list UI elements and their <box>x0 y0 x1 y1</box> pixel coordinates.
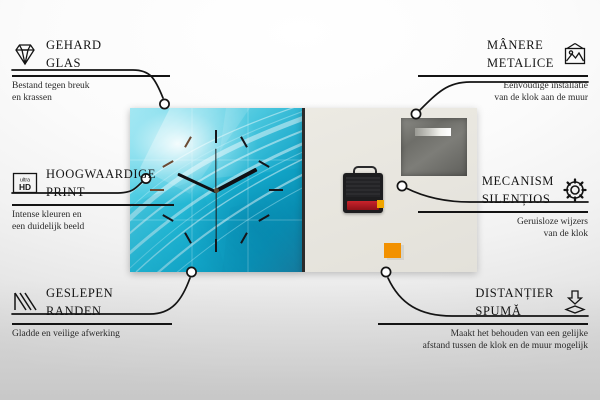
feature-subtitle-line1: Geruisloze wijzers <box>418 216 588 228</box>
feature-mecanism-silentios: MECANISM SILENȚIOS Geruisloze wijzers va… <box>418 172 588 240</box>
ultra-hd-icon: ultra HD <box>12 170 38 196</box>
feature-divider <box>12 323 172 325</box>
feature-divider <box>378 323 588 325</box>
feature-title: GEHARD GLAS <box>46 36 102 72</box>
svg-text:HD: HD <box>19 182 31 192</box>
feature-hoogwaardige-print: ultra HD HOOGWAARDIGE PRINT Intense kleu… <box>12 165 187 233</box>
feature-gehard-glas: GEHARD GLAS Bestand tegen breuk en krass… <box>12 36 182 104</box>
feature-divider <box>418 211 588 213</box>
feature-title: HOOGWAARDIGE PRINT <box>46 165 156 201</box>
feature-title: MÂNERE METALICE <box>487 36 554 72</box>
feature-distantier-spuma: DISTANȚIER SPUMĂ Maakt het behouden van … <box>378 284 588 352</box>
feature-title: MECANISM SILENȚIOS <box>482 172 554 208</box>
feature-subtitle-line1: Maakt het behouden van een gelijke <box>378 328 588 340</box>
gear-icon <box>562 177 588 203</box>
diagonal-lines-icon <box>12 289 38 315</box>
feature-divider <box>418 75 588 77</box>
feature-manere-metalice: MÂNERE METALICE Eenvoudige installatie v… <box>418 36 588 104</box>
feature-divider <box>12 204 174 206</box>
feature-subtitle-line2: van de klok aan de muur <box>418 92 588 104</box>
arrow-layers-icon <box>562 289 588 315</box>
feature-geslepen-randen: GESLEPEN RANDEN Gladde en veilige afwerk… <box>12 284 192 340</box>
feature-subtitle-line1: Eenvoudige installatie <box>418 80 588 92</box>
feature-subtitle-line1: Intense kleuren en <box>12 209 187 221</box>
feature-subtitle-line2: afstand tussen de klok en de muur mogeli… <box>378 340 588 352</box>
feature-title: DISTANȚIER SPUMĂ <box>475 284 554 320</box>
feature-divider <box>12 75 170 77</box>
picture-frame-icon <box>562 41 588 67</box>
feature-subtitle-line2: van de klok <box>418 228 588 240</box>
diamond-icon <box>12 41 38 67</box>
feature-subtitle-line2: en krassen <box>12 92 182 104</box>
infographic-canvas: GEHARD GLAS Bestand tegen breuk en krass… <box>0 0 600 400</box>
feature-title: GESLEPEN RANDEN <box>46 284 113 320</box>
feature-subtitle-line2: een duidelijk beeld <box>12 221 187 233</box>
feature-heading-row: DISTANȚIER SPUMĂ <box>378 284 588 320</box>
feature-subtitle-line1: Gladde en veilige afwerking <box>12 328 192 340</box>
feature-subtitle-line1: Bestand tegen breuk <box>12 80 182 92</box>
feature-heading-row: GESLEPEN RANDEN <box>12 284 192 320</box>
feature-heading-row: MECANISM SILENȚIOS <box>418 172 588 208</box>
feature-heading-row: ultra HD HOOGWAARDIGE PRINT <box>12 165 187 201</box>
feature-heading-row: MÂNERE METALICE <box>418 36 588 72</box>
feature-heading-row: GEHARD GLAS <box>12 36 182 72</box>
